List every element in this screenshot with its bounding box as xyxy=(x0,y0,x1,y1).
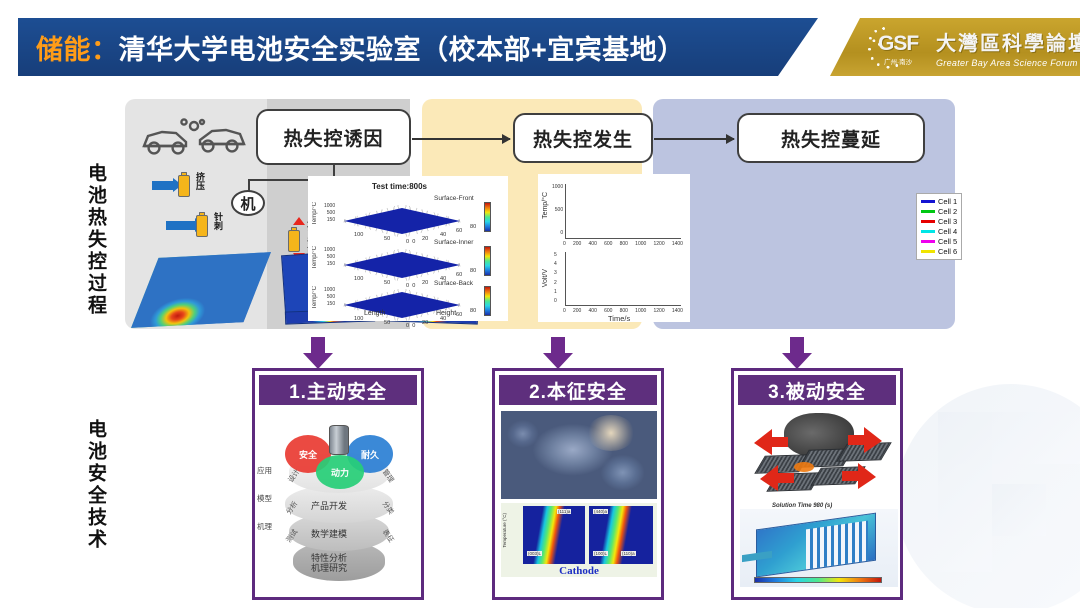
stage-box-occurrence[interactable]: 热失控发生 xyxy=(513,113,653,163)
venn-power: 动力 xyxy=(316,455,364,489)
contour-annot-110a: (110)a xyxy=(621,551,636,556)
volt-ylabel: Volt/V xyxy=(542,269,549,287)
battery-nail-icon xyxy=(196,212,208,237)
xtick: 1400 xyxy=(672,308,683,314)
forum-name-en: Greater Bay Area Science Forum xyxy=(936,58,1080,68)
legend-item: Cell 3 xyxy=(921,217,957,226)
xtick: 600 xyxy=(604,241,612,247)
layer-label-product-dev: 产品开发 xyxy=(311,499,347,512)
legend-swatch-cell-3 xyxy=(921,220,935,223)
surface-ylabel: Height xyxy=(436,310,456,317)
surface-zlabel-2: Temp/°C xyxy=(312,246,318,269)
surface-xlabel: Length xyxy=(364,310,385,317)
surface-yticks-2: 20 xyxy=(422,280,428,286)
watermark-bar-2 xyxy=(938,412,992,572)
surface-xticks-1: 100 xyxy=(354,232,363,238)
surface-chart-card: Test time:800s Surface-Front Temp/°C 100… xyxy=(308,176,508,321)
page-title-main: 清华大学电池安全实验室（校本部+宜宾基地） xyxy=(119,35,685,65)
legend-item: Cell 5 xyxy=(921,237,957,246)
ztick: 1000 xyxy=(324,287,335,293)
surface-colorbar-2 xyxy=(484,246,491,276)
xtick: 1200 xyxy=(654,308,665,314)
xtick: 400 xyxy=(589,308,597,314)
contour-annot-440a: (440)a xyxy=(593,509,608,514)
legend-swatch-cell-5 xyxy=(921,240,935,243)
ztick: 500 xyxy=(327,210,335,216)
contour-ylabel: Temperature (°C) xyxy=(502,513,507,548)
ytick: 0 xyxy=(560,230,563,236)
card-passive-safety[interactable]: 3.被动安全 Solution Time 980 (s) xyxy=(731,368,903,600)
cfd-colorbar xyxy=(754,577,882,583)
legend-label: Cell 5 xyxy=(938,237,957,246)
legend-item: Cell 2 xyxy=(921,207,957,216)
volt-axes xyxy=(565,252,681,306)
abuse-label-crush: 挤压 xyxy=(194,172,207,190)
legend-label: Cell 6 xyxy=(938,247,957,256)
xtick: 1400 xyxy=(672,241,683,247)
ytick: 3 xyxy=(554,270,557,276)
ytick: 4 xyxy=(554,261,557,267)
surface-zlabel-3: Temp/°C xyxy=(312,286,318,309)
flow-arrow-2 xyxy=(654,138,734,140)
contour-annot-100L: (100)L xyxy=(593,551,608,556)
temp-ylabel: Temp/°C xyxy=(542,192,549,219)
contour-plot-label: Cathode xyxy=(501,565,657,577)
page-title: 储能：清华大学电池安全实验室（校本部+宜宾基地） xyxy=(36,28,685,67)
surface-yticks-3c: 60 xyxy=(456,312,462,318)
down-arrow-intrinsic xyxy=(543,337,573,369)
time-xlabel: Time/s xyxy=(608,314,630,323)
ztick: 1000 xyxy=(324,203,335,209)
surface-xticks-1c: 0 0 xyxy=(406,239,415,245)
legend-swatch-cell-2 xyxy=(921,210,935,213)
legend-swatch-cell-6 xyxy=(921,250,935,253)
contour-annot-003L: (003)L xyxy=(527,551,542,556)
ztick: 150 xyxy=(327,217,335,223)
temp-xticks: 0 200 400 600 800 1000 1200 1400 xyxy=(563,241,683,247)
legend-swatch-cell-1 xyxy=(921,200,935,203)
ytick: 0 xyxy=(554,298,557,304)
battery-pack-illustration xyxy=(742,411,894,503)
surface-yticks-1: 20 xyxy=(422,236,428,242)
micrograph-glow xyxy=(587,415,635,451)
surface-label-back: Surface-Back xyxy=(434,280,473,287)
card-intrinsic-safety[interactable]: 2.本征安全 Temperature (°C) (111)a (440)a (0… xyxy=(492,368,664,600)
surface-xticks-3: 100 xyxy=(354,316,363,322)
surface-xticks-3c: 0 0 xyxy=(406,323,415,329)
slide-root: { "header": { "title_accent": "储能：", "ti… xyxy=(0,0,1080,608)
forum-name-cn: 大灣區科學論壇 xyxy=(936,27,1080,56)
card-active-title: 1.主动安全 xyxy=(259,375,417,405)
page-title-accent: 储能： xyxy=(36,35,119,65)
surface-yticks-1b: 40 xyxy=(440,232,446,238)
flow-arrow-1 xyxy=(412,138,510,140)
xtick: 0 xyxy=(563,308,566,314)
ztick: 150 xyxy=(327,261,335,267)
battery-overcharge-icon xyxy=(288,227,300,252)
card-passive-body: Solution Time 980 (s) xyxy=(734,409,900,599)
crush-arrow-icon xyxy=(152,181,174,190)
temp-yticks: 1000 500 0 xyxy=(552,184,563,236)
left-label-mechanism: 机理 xyxy=(257,521,272,532)
surface-yticks-1d: 80 xyxy=(470,224,476,230)
card-active-body: 安全 耐久 动力 应用 模型 机理 设计 分析 测试 管理 分类 表征 产品开发… xyxy=(255,409,421,599)
surface-yticks-3d: 80 xyxy=(470,308,476,314)
ztick: 150 xyxy=(327,301,335,307)
card-intrinsic-body: Temperature (°C) (111)a (440)a (003)L (1… xyxy=(495,409,661,599)
stage-box-propagation[interactable]: 热失控蔓延 xyxy=(737,113,925,163)
surface-zlabel-1: Temp/°C xyxy=(312,202,318,225)
inner-right-characterize: 表征 xyxy=(380,527,396,544)
layer-label-characterization: 特性分析 机理研究 xyxy=(311,553,347,574)
surface-label-front: Surface-Front xyxy=(434,195,474,202)
left-label-application: 应用 xyxy=(257,465,272,476)
nail-arrow-icon xyxy=(166,221,196,230)
gsf-letters: GSF xyxy=(878,32,918,56)
battery-cell-3d-icon xyxy=(329,425,349,455)
surface-label-inner: Surface-Inner xyxy=(434,239,473,246)
legend-item: Cell 4 xyxy=(921,227,957,236)
xtick: 1000 xyxy=(635,308,646,314)
ytick: 500 xyxy=(555,207,563,213)
surface-xticks-3b: 50 xyxy=(384,320,390,326)
surface-zticks-3: 1000 500 150 xyxy=(324,287,335,307)
header-title-bar: 储能：清华大学电池安全实验室（校本部+宜宾基地） xyxy=(18,18,818,76)
volt-yticks: 5 4 3 2 1 0 xyxy=(554,252,557,304)
ytick: 1 xyxy=(554,289,557,295)
surface-colorbar-3 xyxy=(484,286,491,316)
xtick: 1200 xyxy=(654,241,665,247)
legend-label: Cell 1 xyxy=(938,197,957,206)
abuse-label-nail: 针刺 xyxy=(212,212,225,230)
propagation-arrows-icon xyxy=(742,411,894,503)
surface-xticks-2c: 0 0 xyxy=(406,283,415,289)
contour-plot-group: Temperature (°C) (111)a (440)a (003)L (1… xyxy=(501,503,657,577)
xtick: 800 xyxy=(620,241,628,247)
card-intrinsic-title: 2.本征安全 xyxy=(499,375,657,405)
surface-chart-title: Test time:800s xyxy=(372,182,427,191)
legend-label: Cell 4 xyxy=(938,227,957,236)
gsf-sub-label: 广州·南沙 xyxy=(884,56,912,66)
forum-logo: GSF 广州·南沙 大灣區科學論壇 Greater Bay Area Scien… xyxy=(830,18,1080,76)
surface-mesh-inner xyxy=(344,252,460,278)
cfd-simulation-image xyxy=(740,509,898,587)
ztick: 500 xyxy=(327,294,335,300)
surface-xticks-2b: 50 xyxy=(384,280,390,286)
layer-label-modeling: 数学建模 xyxy=(311,527,347,540)
legend-item: Cell 1 xyxy=(921,197,957,206)
temp-axes xyxy=(565,184,681,239)
surface-yticks-2c: 60 xyxy=(456,272,462,278)
surface-yticks-3: 20 xyxy=(422,320,428,326)
surface-zticks-2: 1000 500 150 xyxy=(324,247,335,267)
ytick: 5 xyxy=(554,252,557,258)
cell-legend: Cell 1 Cell 2 Cell 3 Cell 4 Cell 5 Cell … xyxy=(916,193,962,260)
card-active-safety[interactable]: 1.主动安全 安全 耐久 动力 应用 模型 机理 设计 分析 测试 管理 分类 … xyxy=(252,368,424,600)
surface-xticks-1b: 50 xyxy=(384,236,390,242)
legend-swatch-cell-4 xyxy=(921,230,935,233)
xtick: 200 xyxy=(573,241,581,247)
xtick: 1000 xyxy=(635,241,646,247)
xtick: 0 xyxy=(563,241,566,247)
particle-micrograph xyxy=(501,411,657,499)
card-passive-title: 3.被动安全 xyxy=(738,375,896,405)
surface-colorbar-1 xyxy=(484,202,491,232)
down-arrow-passive xyxy=(782,337,812,369)
xtick: 400 xyxy=(589,241,597,247)
contour-annot-111a: (111)a xyxy=(557,509,571,514)
surface-yticks-2d: 80 xyxy=(470,268,476,274)
side-label-technology: 电池安全技术 xyxy=(82,400,109,570)
watermark-bar-3 xyxy=(992,484,1046,536)
cell-timeseries-card: Temp/°C 1000 500 0 0 200 400 600 800 100… xyxy=(538,174,690,322)
ztick: 500 xyxy=(327,254,335,260)
gsf-logo-icon: GSF 广州·南沙 xyxy=(864,23,930,71)
surface-zticks-1: 1000 500 150 xyxy=(324,203,335,223)
car-crash-icon xyxy=(140,118,248,160)
down-arrow-active xyxy=(303,337,333,369)
battery-crush-icon xyxy=(178,172,190,197)
stage-box-cause[interactable]: 热失控诱因 xyxy=(256,109,411,165)
side-label-process: 电池热失控过程 xyxy=(82,140,109,340)
legend-item: Cell 6 xyxy=(921,247,957,256)
overcharge-arrow-up-icon xyxy=(293,217,305,225)
branch-mechanical: 机 xyxy=(231,190,265,216)
ztick: 1000 xyxy=(324,247,335,253)
legend-label: Cell 2 xyxy=(938,207,957,216)
legend-label: Cell 3 xyxy=(938,217,957,226)
left-label-model: 模型 xyxy=(257,493,272,504)
xtick: 200 xyxy=(573,308,581,314)
ytick: 1000 xyxy=(552,184,563,190)
surface-yticks-1c: 60 xyxy=(456,228,462,234)
surface-mesh-front xyxy=(344,208,460,234)
slide-header: 储能：清华大学电池安全实验室（校本部+宜宾基地） GSF 广州·南沙 大灣區科學… xyxy=(18,18,1062,76)
ytick: 2 xyxy=(554,280,557,286)
surface-xticks-2: 100 xyxy=(354,276,363,282)
forum-name-block: 大灣區科學論壇 Greater Bay Area Science Forum xyxy=(936,27,1080,68)
